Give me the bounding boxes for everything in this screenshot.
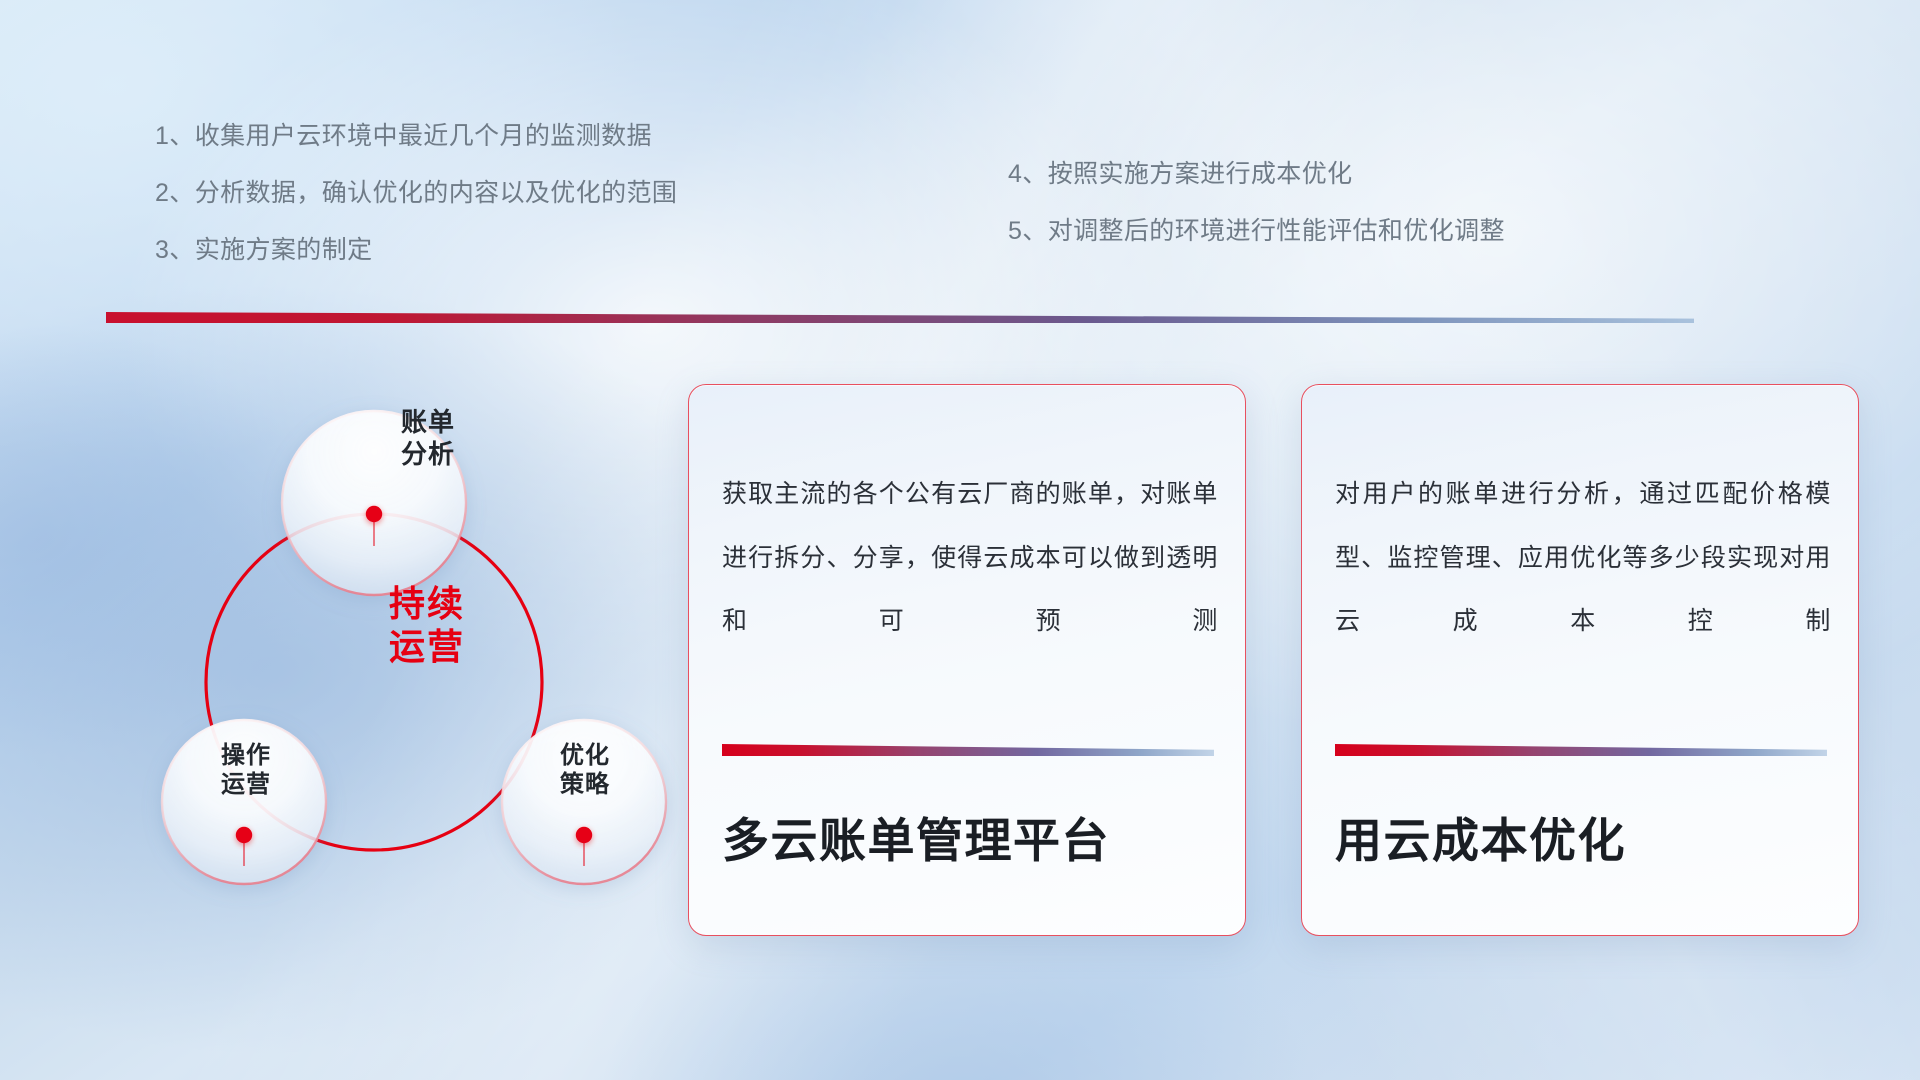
- process-steps-right-column: 4、按照实施方案进行成本优化 5、对调整后的环境进行性能评估和优化调整: [1008, 162, 1505, 244]
- venn-dot-bottom-left: [236, 827, 252, 843]
- process-step-item: 5、对调整后的环境进行性能评估和优化调整: [1008, 219, 1505, 244]
- process-step-item: 1、收集用户云环境中最近几个月的监测数据: [155, 124, 677, 149]
- continuous-operations-diagram: 账单 分析 操作 运营 优化 策略 持续 运营: [96, 350, 656, 950]
- venn-dot-bottom-right: [576, 827, 592, 843]
- feature-card-title: 多云账单管理平台: [722, 817, 1110, 864]
- header-divider: [106, 312, 1694, 323]
- process-steps-left-column: 1、收集用户云环境中最近几个月的监测数据 2、分析数据，确认优化的内容以及优化的…: [155, 124, 677, 263]
- feature-card-body: 获取主流的各个公有云厂商的账单，对账单进行拆分、分享，使得云成本可以做到透明和可…: [722, 463, 1218, 654]
- venn-bubble-top: [282, 411, 466, 595]
- process-step-item: 3、实施方案的制定: [155, 238, 677, 263]
- venn-dot-top: [366, 506, 382, 522]
- feature-card-title: 用云成本优化: [1335, 817, 1626, 864]
- slide-canvas: 1、收集用户云环境中最近几个月的监测数据 2、分析数据，确认优化的内容以及优化的…: [0, 0, 1920, 1080]
- feature-card-body: 对用户的账单进行分析，通过匹配价格模型、监控管理、应用优化等多少段实现对用云成本…: [1335, 463, 1831, 654]
- feature-card-divider: [1335, 744, 1827, 756]
- feature-card[interactable]: 获取主流的各个公有云厂商的账单，对账单进行拆分、分享，使得云成本可以做到透明和可…: [688, 384, 1246, 936]
- process-step-item: 4、按照实施方案进行成本优化: [1008, 162, 1505, 187]
- process-step-item: 2、分析数据，确认优化的内容以及优化的范围: [155, 181, 677, 206]
- feature-card-divider: [722, 744, 1214, 756]
- feature-card[interactable]: 对用户的账单进行分析，通过匹配价格模型、监控管理、应用优化等多少段实现对用云成本…: [1301, 384, 1859, 936]
